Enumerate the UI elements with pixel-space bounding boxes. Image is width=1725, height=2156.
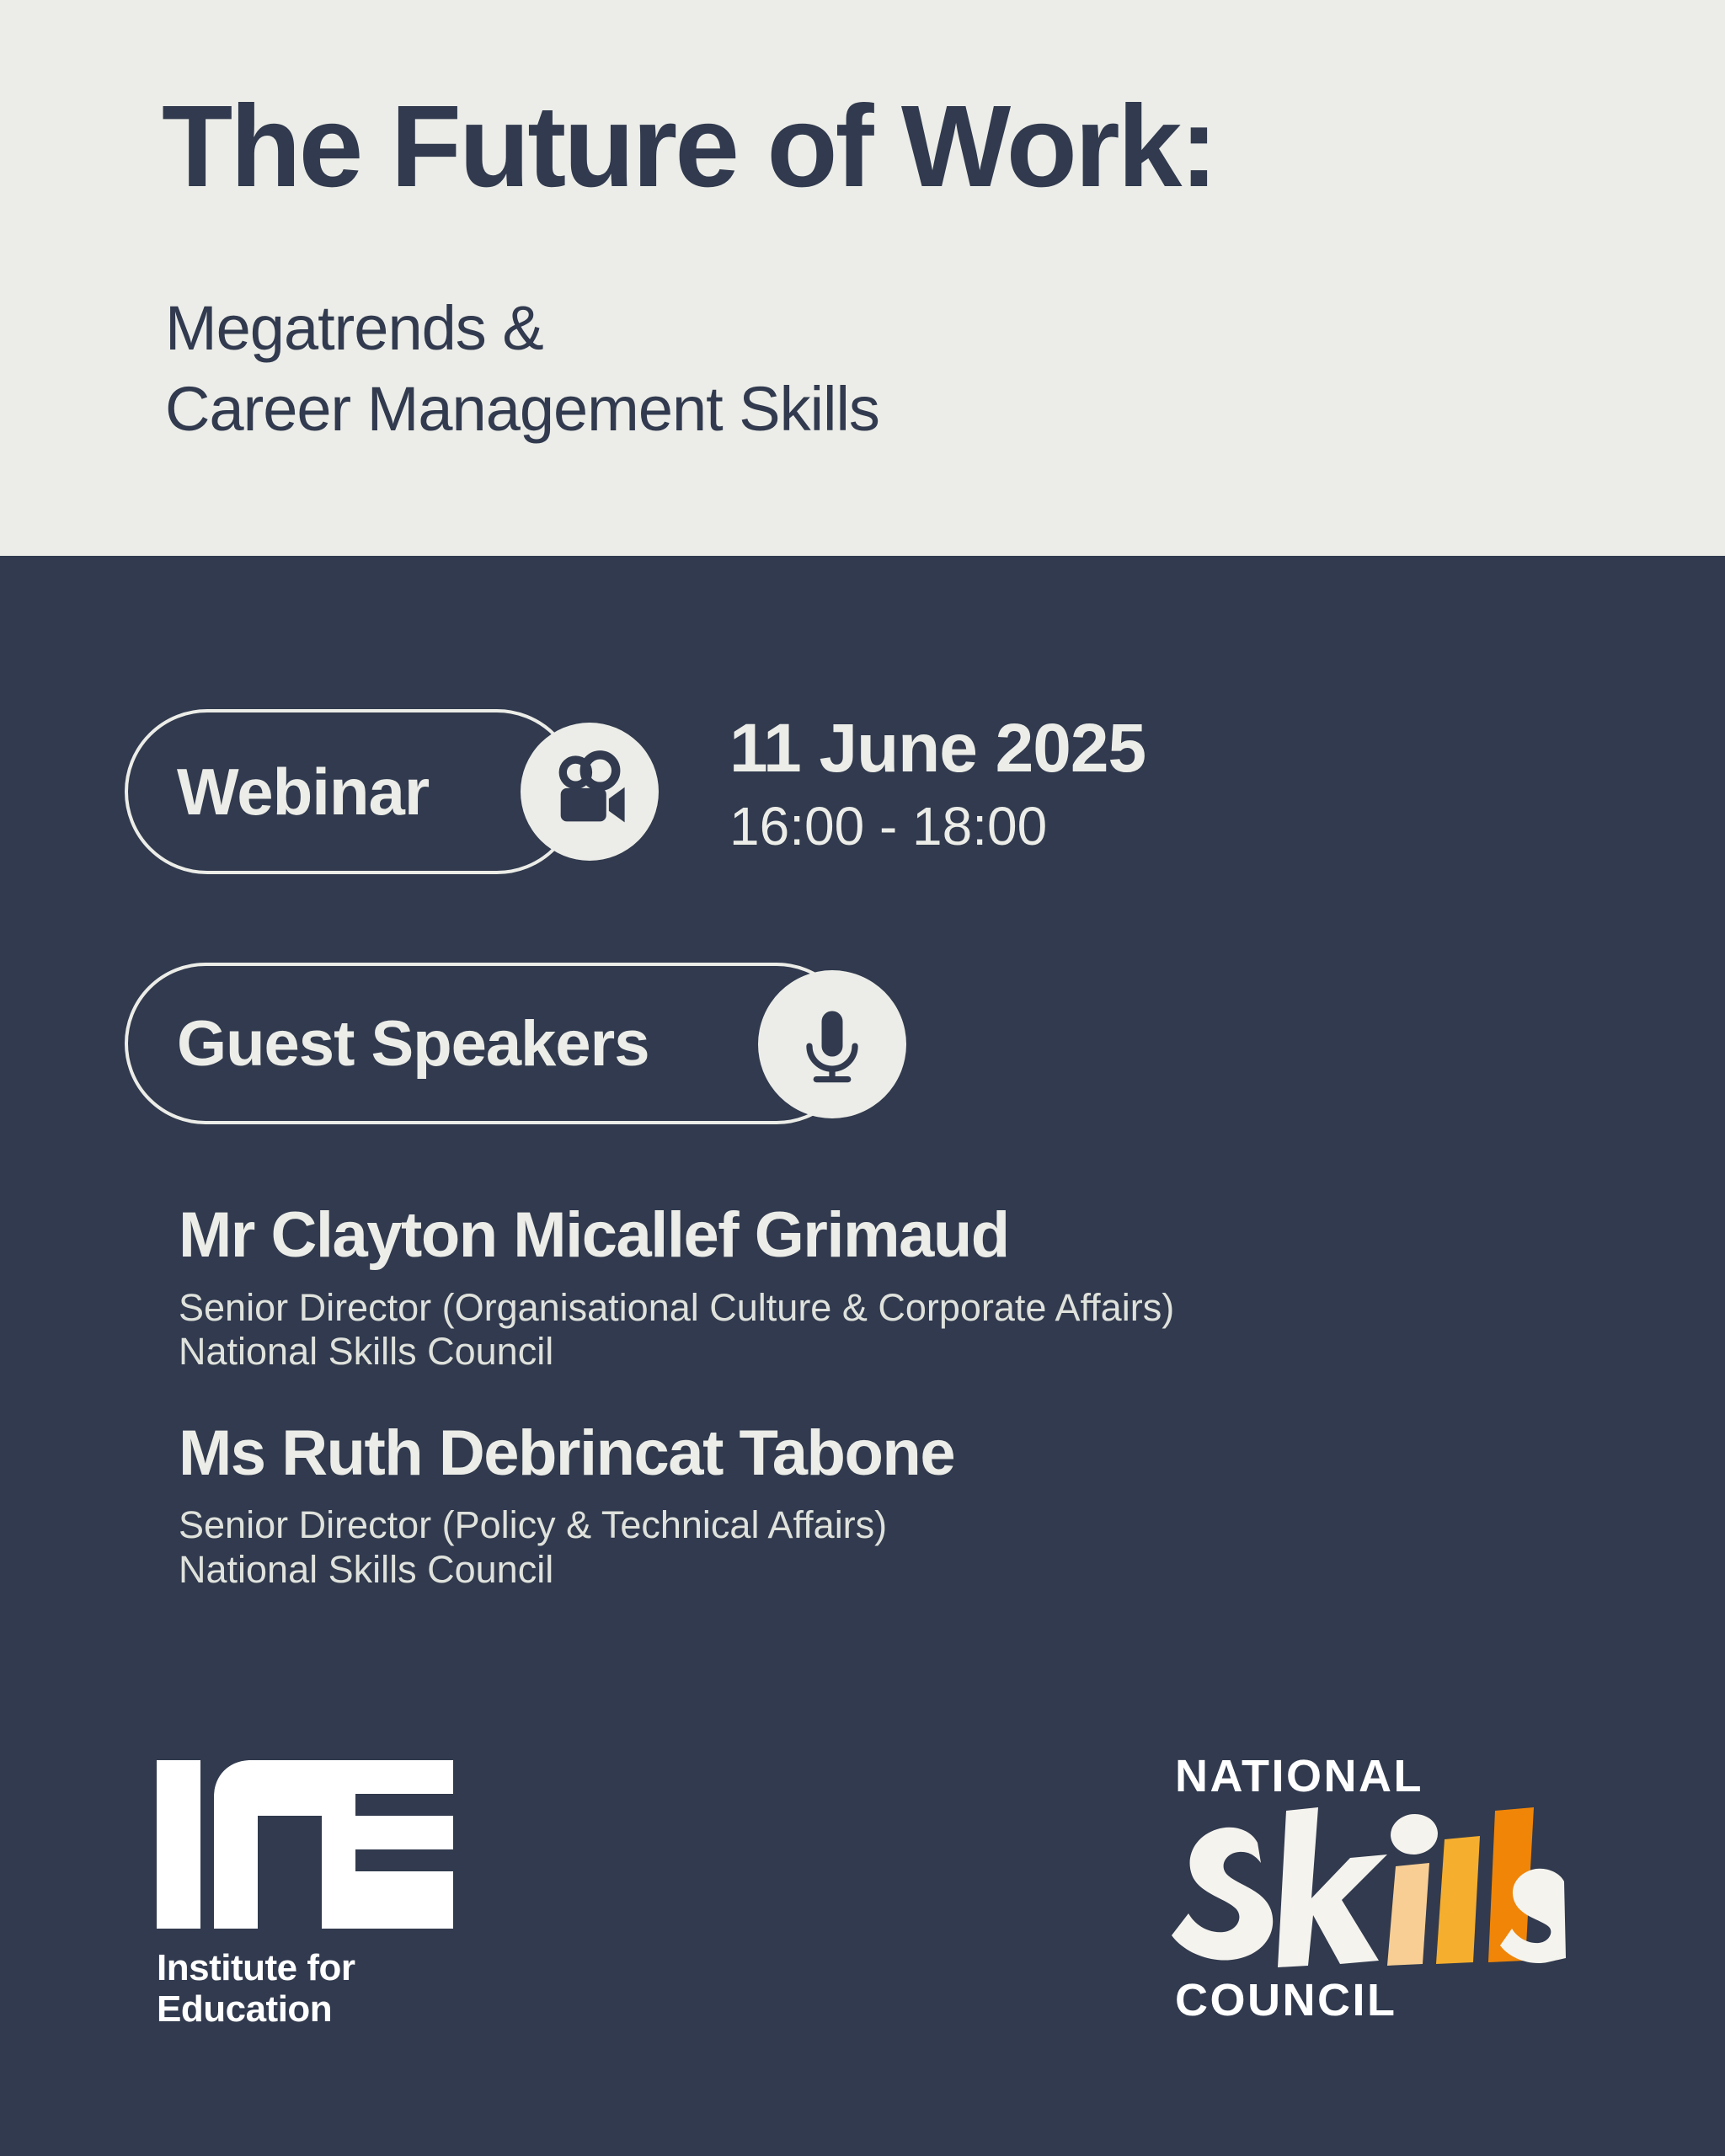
speaker-role: Senior Director (Policy & Technical Affa… <box>179 1503 1610 1548</box>
guest-speakers-label: Guest Speakers <box>177 1007 649 1081</box>
ife-wordmark-icon <box>157 1760 453 1929</box>
subtitle-line-1: Megatrends & <box>165 288 1597 369</box>
guest-speakers-pill: Guest Speakers <box>125 963 857 1124</box>
webinar-format-pill: Webinar <box>125 709 579 874</box>
page-subtitle: Megatrends & Career Management Skills <box>165 288 1597 450</box>
microphone-badge <box>758 970 906 1118</box>
national-skills-council-logo: NATIONAL COUNCIL <box>1175 1753 1596 2023</box>
microphone-icon <box>788 1001 876 1088</box>
ife-logo: Institute for Education <box>157 1760 510 2031</box>
speaker-details: Senior Director (Organisational Culture … <box>179 1286 1610 1374</box>
speaker-list: Mr Clayton Micallef Grimaud Senior Direc… <box>179 1200 1610 1636</box>
nsc-logo-national: NATIONAL <box>1175 1753 1596 1799</box>
speaker-name: Mr Clayton Micallef Grimaud <box>179 1200 1610 1271</box>
speaker-organisation: National Skills Council <box>179 1330 1610 1374</box>
speaker-organisation: National Skills Council <box>179 1548 1610 1593</box>
video-camera-icon <box>546 748 633 835</box>
subtitle-line-2: Career Management Skills <box>165 369 1597 450</box>
header-band: The Future of Work: Megatrends & Career … <box>0 0 1725 556</box>
speaker-item: Ms Ruth Debrincat Tabone Senior Director… <box>179 1418 1610 1593</box>
event-datetime: 11 June 2025 16:00 - 18:00 <box>729 712 1146 855</box>
event-date: 11 June 2025 <box>729 712 1146 785</box>
nsc-skills-wordmark-icon <box>1170 1804 1566 1972</box>
speaker-details: Senior Director (Policy & Technical Affa… <box>179 1503 1610 1592</box>
event-time: 16:00 - 18:00 <box>729 798 1146 855</box>
video-camera-badge <box>521 723 659 861</box>
speaker-item: Mr Clayton Micallef Grimaud Senior Direc… <box>179 1200 1610 1374</box>
ife-logo-line-2: Education <box>157 1988 510 2030</box>
nsc-logo-council: COUNCIL <box>1175 1977 1596 2023</box>
speaker-name: Ms Ruth Debrincat Tabone <box>179 1418 1610 1489</box>
speaker-role: Senior Director (Organisational Culture … <box>179 1286 1610 1331</box>
webinar-format-label: Webinar <box>177 754 429 830</box>
ife-logo-line-1: Institute for <box>157 1947 510 1988</box>
page-title: The Future of Work: <box>162 88 1644 206</box>
webinar-poster: The Future of Work: Megatrends & Career … <box>0 0 1725 2156</box>
ife-logo-text: Institute for Education <box>157 1947 510 2031</box>
